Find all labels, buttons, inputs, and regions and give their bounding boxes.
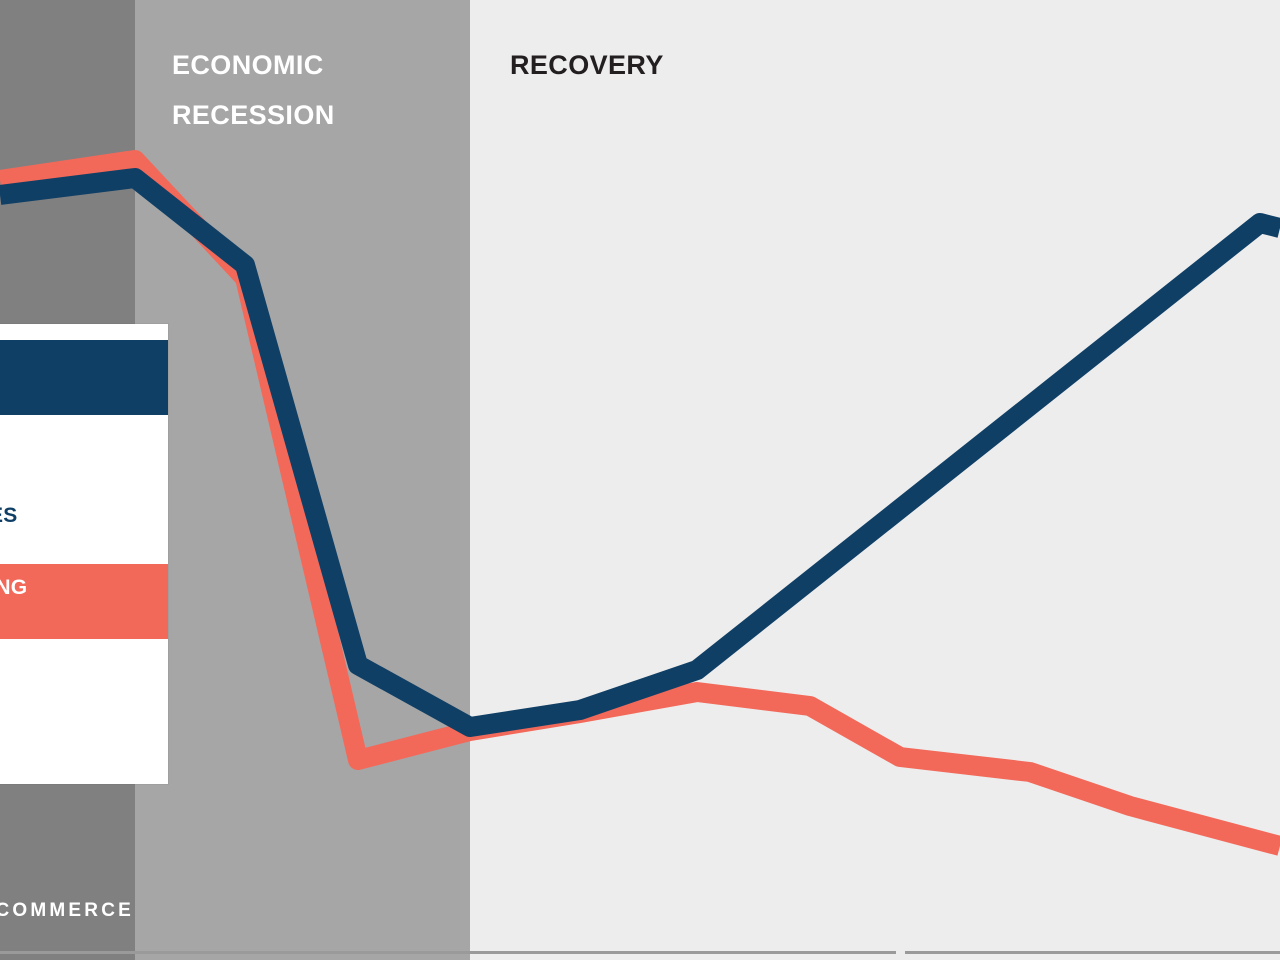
chart-legend: G S GY SERVICES S NEEDING E MENT Y ICES bbox=[0, 324, 168, 784]
series-line-coral bbox=[0, 160, 1280, 846]
legend-series-coral: S NEEDING E MENT Y ICES bbox=[0, 564, 168, 762]
legend-items-coral: MENT Y ICES bbox=[0, 639, 168, 762]
chart-plot-area bbox=[0, 0, 1280, 960]
legend-chip-coral-label: S NEEDING E bbox=[0, 564, 168, 639]
legend-divider bbox=[0, 546, 168, 564]
chart-source-footer: BER OF COMMERCE bbox=[0, 900, 134, 922]
x-axis-tick bbox=[896, 948, 905, 957]
series-line-navy bbox=[0, 178, 1280, 727]
legend-items-navy: GY SERVICES bbox=[0, 415, 168, 538]
legend-chip-navy-label: G S bbox=[0, 340, 168, 415]
chart-canvas: D D ECONOMIC RECESSION RECOVERY G S GY S… bbox=[0, 0, 1280, 960]
x-axis-line bbox=[0, 951, 1280, 954]
legend-series-navy: G S GY SERVICES bbox=[0, 340, 168, 538]
